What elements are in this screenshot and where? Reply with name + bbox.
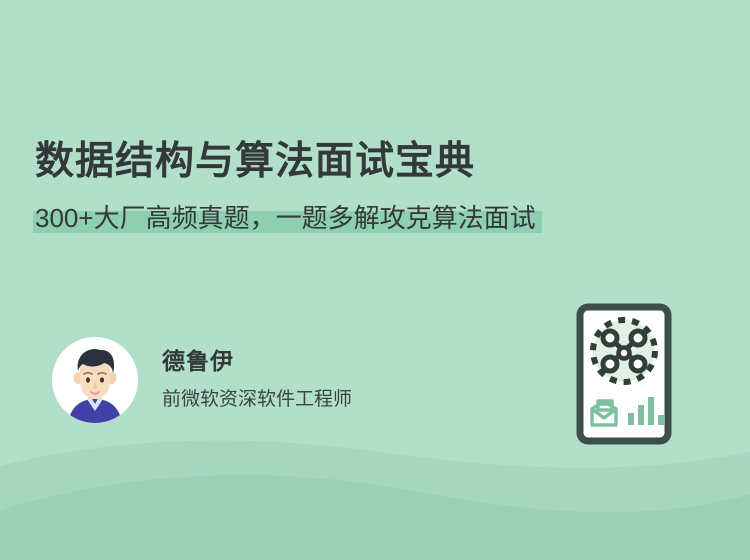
course-title: 数据结构与算法面试宝典 [35, 140, 695, 185]
graph-node-tr [631, 331, 645, 345]
avatar [52, 337, 138, 423]
instructor-row: 德鲁伊 前微软资深软件工程师 [52, 337, 352, 423]
avatar-eye-right [100, 377, 104, 382]
subtitle-wrap: 300+大厂高频真题，一题多解攻克算法面试 [35, 202, 536, 235]
wave-decoration [0, 430, 750, 560]
graph-node-tl [603, 331, 617, 345]
graph-node-center [619, 348, 630, 359]
wave-back [0, 440, 750, 560]
graph-node-bl [603, 357, 617, 371]
instructor-name: 德鲁伊 [162, 348, 352, 376]
course-banner: 数据结构与算法面试宝典 300+大厂高频真题，一题多解攻克算法面试 [0, 0, 750, 560]
headline-block: 数据结构与算法面试宝典 300+大厂高频真题，一题多解攻克算法面试 [35, 140, 695, 234]
wave-front [0, 475, 750, 560]
avatar-eye-left [86, 377, 90, 382]
course-subtitle: 300+大厂高频真题，一题多解攻克算法面试 [35, 202, 536, 235]
graph-node-br [631, 357, 645, 371]
instructor-text: 德鲁伊 前微软资深软件工程师 [162, 348, 352, 411]
algorithm-topic-card-icon [576, 303, 672, 445]
instructor-role: 前微软资深软件工程师 [162, 389, 352, 412]
